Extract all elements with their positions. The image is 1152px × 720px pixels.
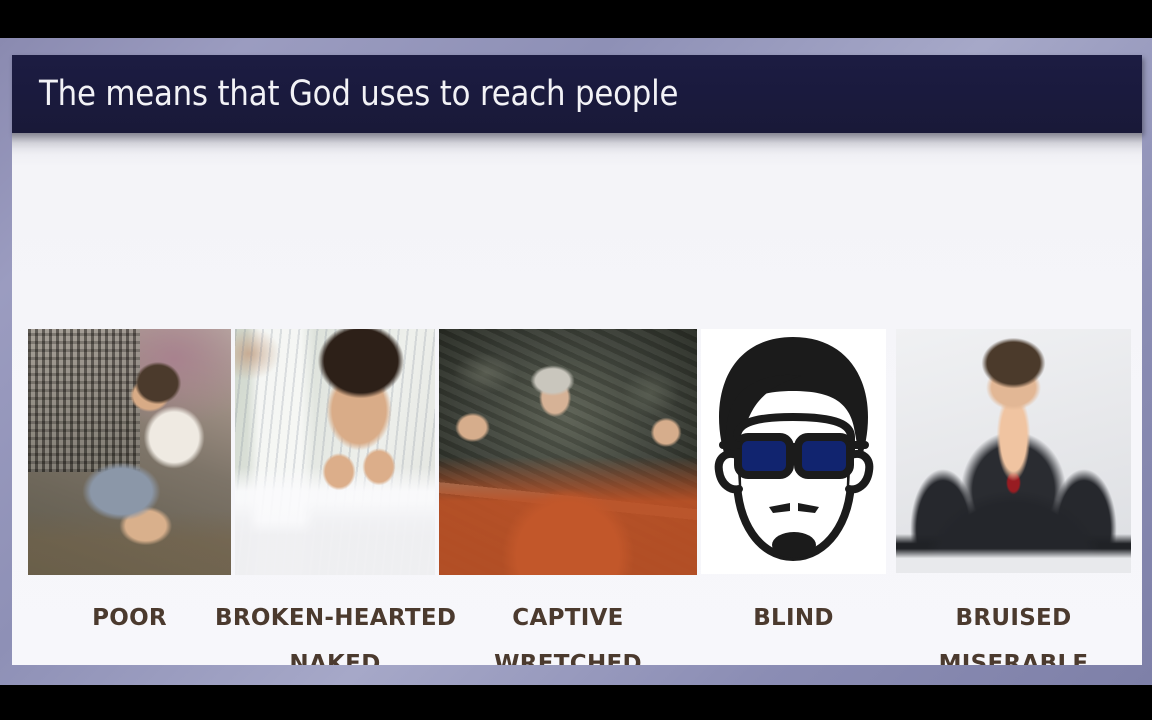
- slide-body: POOR BROKEN-HEARTED NAKED CAPTIVE WRETCH…: [12, 133, 1142, 665]
- caption-row: POOR BROKEN-HEARTED NAKED CAPTIVE WRETCH…: [12, 595, 1142, 665]
- caption-line: NAKED: [215, 641, 455, 665]
- caption-line: WRETCHED: [439, 641, 697, 665]
- panel-image-blind: [701, 329, 886, 574]
- panel-image-bruised: [896, 329, 1131, 573]
- caption-broken-hearted: BROKEN-HEARTED NAKED: [215, 595, 455, 665]
- caption-line: POOR: [28, 595, 231, 641]
- caption-line: CAPTIVE: [439, 595, 697, 641]
- caption-bruised: BRUISED MISERABLE: [886, 595, 1141, 665]
- caption-captive: CAPTIVE WRETCHED: [439, 595, 697, 665]
- caption-line: BRUISED: [886, 595, 1141, 641]
- blind-face-icon: [701, 329, 886, 574]
- bruised-man-photo: [896, 329, 1131, 573]
- slide-title-bar: The means that God uses to reach people: [12, 55, 1142, 133]
- caption-blind: BLIND: [701, 595, 886, 641]
- slide-frame: The means that God uses to reach people: [0, 38, 1152, 685]
- panel-image-poor: [28, 329, 231, 575]
- caption-line: MISERABLE: [886, 641, 1141, 665]
- panel-image-broken-hearted: [235, 329, 435, 575]
- poor-man-painting: [28, 329, 231, 575]
- sunglasses-face-icon: [701, 329, 886, 574]
- caption-line: BROKEN-HEARTED: [215, 595, 455, 641]
- presentation-viewport: The means that God uses to reach people: [0, 0, 1152, 720]
- caption-poor: POOR: [28, 595, 231, 641]
- image-strip: [12, 133, 1142, 665]
- caption-line: BLIND: [701, 595, 886, 641]
- slide-title: The means that God uses to reach people: [39, 74, 678, 114]
- chained-prisoner-painting: [439, 329, 697, 575]
- broken-hearted-man-photo: [235, 329, 435, 575]
- panel-image-captive: [439, 329, 697, 575]
